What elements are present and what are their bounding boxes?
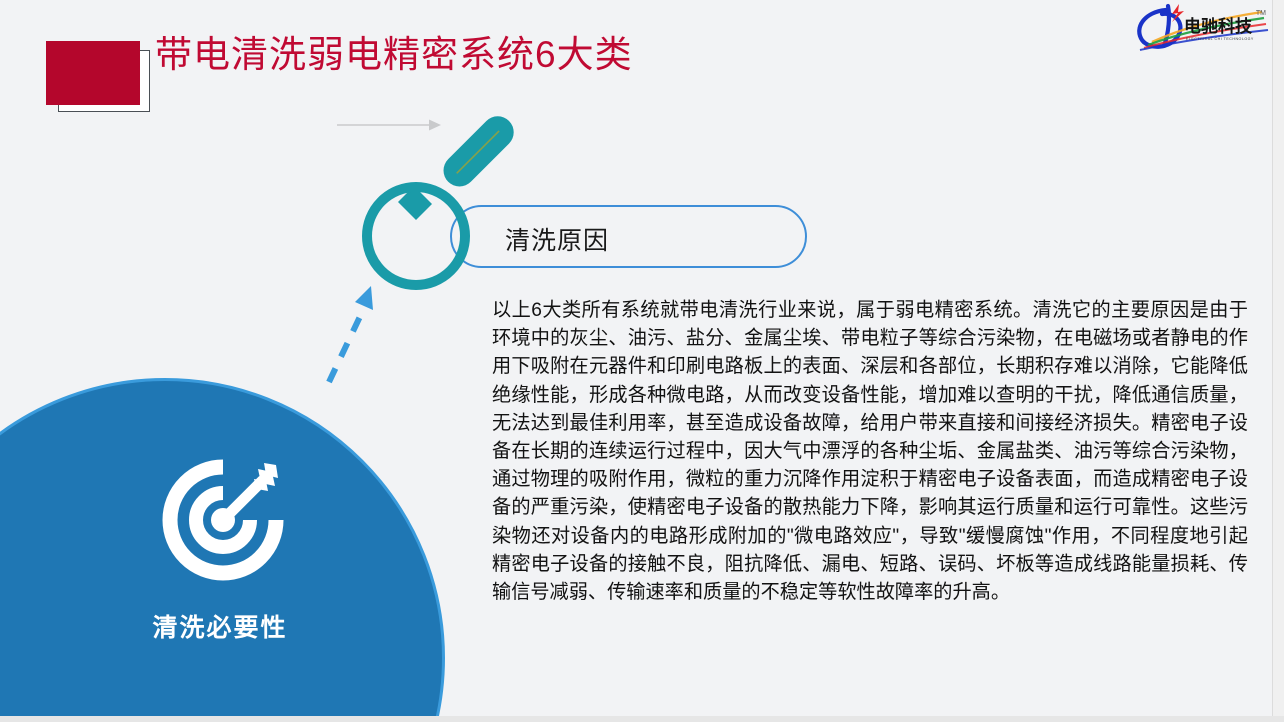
right-margin [1272,0,1284,722]
slide-canvas: 电驰科技 ELECTRICAL CHI TECHNOLOGY TM 带电清洗弱电… [0,0,1284,722]
title-red-square [46,41,140,105]
target-with-arrow-icon [158,455,288,585]
title-block: 带电清洗弱电精密系统6大类 [0,0,1284,120]
bottom-margin [0,716,1284,722]
magnifier-icon [340,110,530,300]
dashed-arrow-icon [315,280,395,390]
body-text: 以上6大类所有系统就带电清洗行业来说，属于弱电精密系统。清洗它的主要原因是由于环… [492,297,1248,607]
cleaning-necessity-label: 清洗必要性 [0,608,440,644]
body-paragraph: 以上6大类所有系统就带电清洗行业来说，属于弱电精密系统。清洗它的主要原因是由于环… [492,297,1248,607]
page-title: 带电清洗弱电精密系统6大类 [155,36,633,73]
